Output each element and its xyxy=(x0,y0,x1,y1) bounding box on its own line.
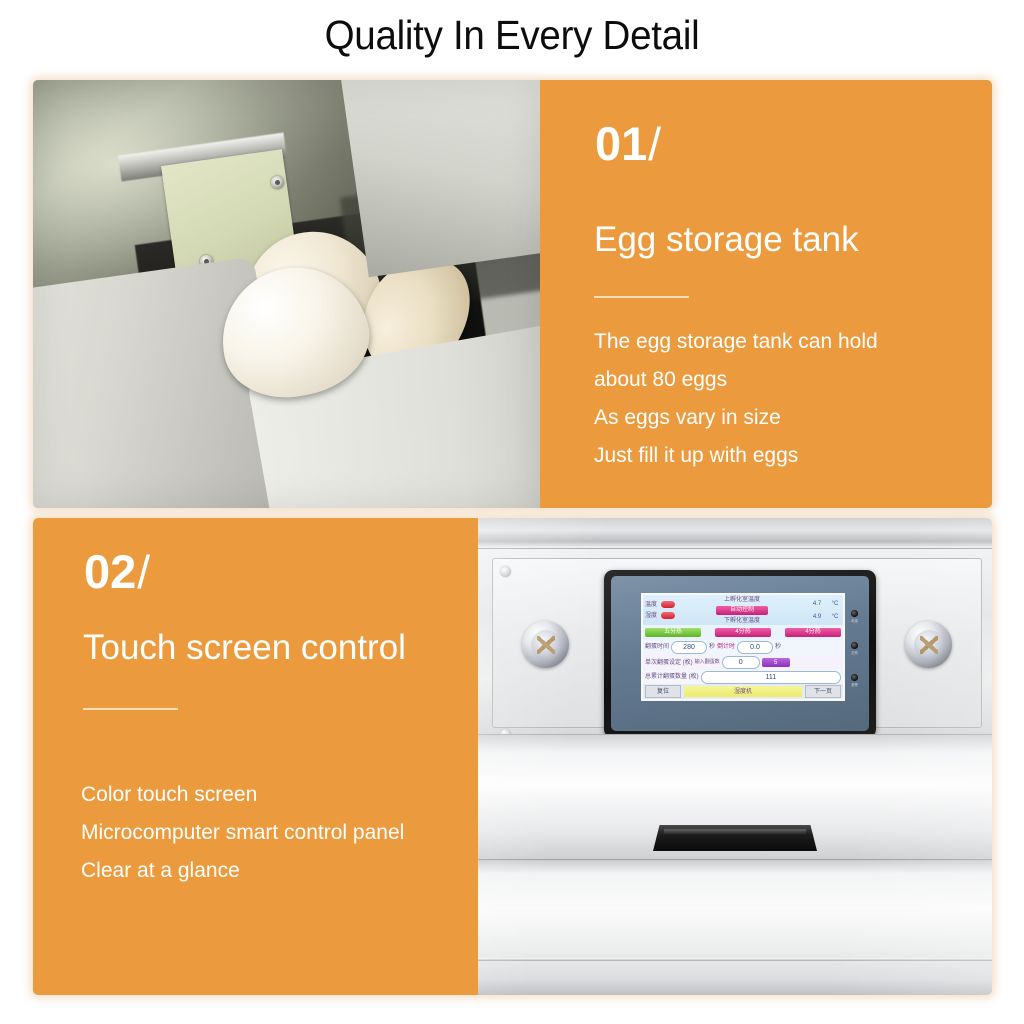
page-title: Quality In Every Detail xyxy=(31,10,994,60)
lcd-heat-button-1[interactable]: 五分热 xyxy=(645,628,701,637)
lcd-label-single-turn: 单次翻蛋设定 (枚) xyxy=(645,660,693,666)
feature-text-panel-02: 02/ Touch screen control Color touch scr… xyxy=(33,518,478,995)
section-number-02: 02/ xyxy=(84,548,150,596)
section-heading-02: Touch screen control xyxy=(83,628,406,668)
section-divider xyxy=(594,296,689,298)
fan-icon xyxy=(537,636,555,654)
body-line: The egg storage tank can hold xyxy=(594,323,878,361)
led-icon xyxy=(851,674,858,681)
lcd-unit-lower: °C xyxy=(832,614,839,620)
lcd-field-turn-time[interactable]: 280 xyxy=(671,641,707,654)
lcd-temperature-row: 温度 湿度 上孵化室温度 自动控制 下孵化室 xyxy=(643,595,843,625)
lcd-field-total: 111 xyxy=(701,671,841,684)
body-line: Just fill it up with eggs xyxy=(594,437,878,475)
lcd-timer-row: 翻蛋时间 280 秒 倒计时 0.0 秒 xyxy=(643,640,843,655)
feature-text-panel-01: 01/ Egg storage tank The egg storage tan… xyxy=(540,80,992,508)
lcd-total-row: 总累计翻蛋数量 (枚) 111 xyxy=(643,670,843,684)
egg-storage-tank-photo xyxy=(33,80,540,508)
lcd-field-single-turn-2[interactable]: 5 xyxy=(762,658,790,667)
lcd-label-lower-chamber: 下孵化室温度 xyxy=(724,618,760,624)
lcd-field-single-turn[interactable]: 0 xyxy=(722,656,760,669)
lcd-field-countdown[interactable]: 0.0 xyxy=(737,641,773,654)
lcd-reset-button[interactable]: 复位 xyxy=(645,685,681,698)
lcd-unit-countdown: 秒 xyxy=(775,644,781,650)
machine-door-upper xyxy=(478,734,992,859)
section-number-01: 01/ xyxy=(595,120,661,168)
lcd-label-turn-time: 翻蛋时间 xyxy=(645,644,669,650)
section-body-02: Color touch screen Microcomputer smart c… xyxy=(81,776,404,890)
led-icon xyxy=(851,642,858,649)
feature-section-02: 02/ Touch screen control Color touch scr… xyxy=(33,518,992,995)
lcd-value-lower-temp: 4.9 xyxy=(813,614,821,620)
lcd-next-page-button[interactable]: 下一页 xyxy=(805,685,841,698)
lcd-setting-row: 单次翻蛋设定 (枚) 输入翻蛋数 0 5 xyxy=(643,655,843,670)
body-line: about 80 eggs xyxy=(594,361,878,399)
vent-knob-left[interactable] xyxy=(522,621,569,668)
indicator-led-alarm: 报警 xyxy=(851,674,858,688)
lcd-label-input-count: 输入翻蛋数 xyxy=(695,660,720,665)
lcd-heat-button-2[interactable]: 4分热 xyxy=(715,628,771,637)
machine-control-panel: 温度 湿度 上孵化室温度 自动控制 下孵化室 xyxy=(478,549,992,734)
status-chip xyxy=(661,612,675,619)
lcd-label-humidity: 湿度 xyxy=(645,613,657,619)
feature-section-01: 01/ Egg storage tank The egg storage tan… xyxy=(33,80,992,508)
door-handle[interactable] xyxy=(653,825,817,851)
touch-screen-control-photo: 温度 湿度 上孵化室温度 自动控制 下孵化室 xyxy=(478,518,992,995)
lcd-footer-row: 复位 湿度机 下一页 xyxy=(643,684,843,699)
section-body-01: The egg storage tank can hold about 80 e… xyxy=(594,323,878,475)
lcd-heat-button-3[interactable]: 4分热 xyxy=(785,628,841,637)
lcd-heat-buttons-row: 五分热 4分热 4分热 xyxy=(643,625,843,639)
lcd-label-total: 总累计翻蛋数量 (枚) xyxy=(645,674,699,680)
screw-icon xyxy=(500,566,511,577)
indicator-led-power: 电源 xyxy=(851,610,858,624)
section-heading-01: Egg storage tank xyxy=(594,220,859,260)
machine-top-band xyxy=(478,518,992,549)
body-line: Clear at a glance xyxy=(81,852,404,890)
touch-screen[interactable]: 温度 湿度 上孵化室温度 自动控制 下孵化室 xyxy=(611,576,869,731)
indicator-led-group: 电源 加热 报警 xyxy=(851,610,858,688)
machine-door-lower xyxy=(478,859,992,995)
section-divider xyxy=(83,708,178,710)
lcd-label-countdown: 倒计时 xyxy=(717,644,735,650)
touch-screen-bezel: 温度 湿度 上孵化室温度 自动控制 下孵化室 xyxy=(604,570,876,738)
status-chip xyxy=(661,601,675,608)
body-line: As eggs vary in size xyxy=(594,399,878,437)
led-label: 加热 xyxy=(851,651,858,656)
photo-vignette xyxy=(33,80,540,508)
body-line: Microcomputer smart control panel xyxy=(81,814,404,852)
body-line: Color touch screen xyxy=(81,776,404,814)
lcd-auto-control-button[interactable]: 自动控制 xyxy=(716,606,768,615)
lcd-label-upper-chamber: 上孵化室温度 xyxy=(724,597,760,603)
lcd-unit-turn-time: 秒 xyxy=(709,644,715,650)
lcd-readout[interactable]: 温度 湿度 上孵化室温度 自动控制 下孵化室 xyxy=(641,593,845,701)
led-label: 电源 xyxy=(851,619,858,624)
vent-knob-right[interactable] xyxy=(905,621,952,668)
led-label: 报警 xyxy=(851,683,858,688)
lcd-value-upper-temp: 4.7 xyxy=(813,601,821,607)
led-icon xyxy=(851,610,858,617)
lcd-unit-upper: °C xyxy=(832,601,839,607)
lcd-label-temperature: 温度 xyxy=(645,602,657,608)
indicator-led-heat: 加热 xyxy=(851,642,858,656)
fan-icon xyxy=(920,636,938,654)
lcd-mode-banner: 湿度机 xyxy=(684,686,802,697)
